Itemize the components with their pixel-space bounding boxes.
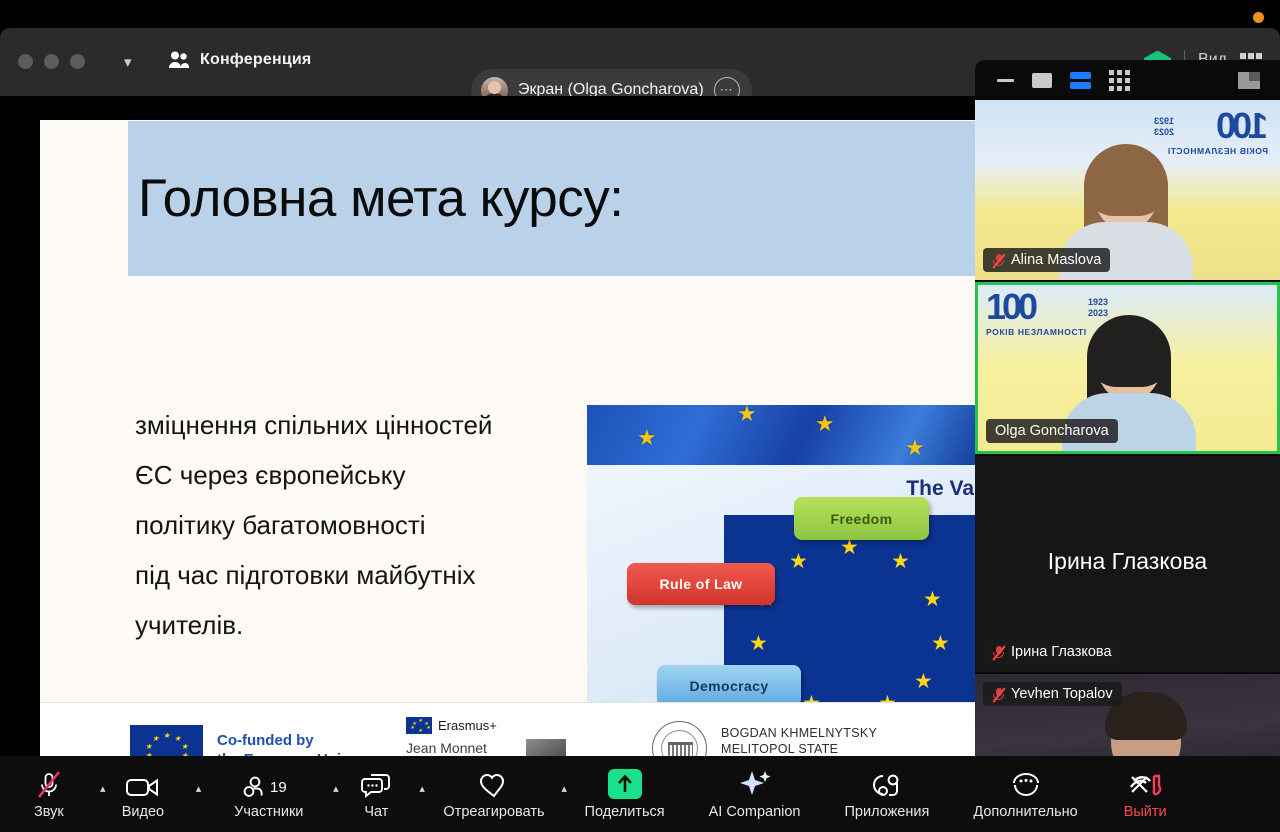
participant-display-name: Ірина Глазкова (975, 548, 1280, 575)
share-screen-label: Поделиться (585, 804, 665, 820)
video-button[interactable]: Видео ▴ (122, 756, 164, 832)
participants-button[interactable]: 19 Участники ▴ (234, 756, 303, 832)
university-line1: BOGDAN KHMELNYTSKY (721, 726, 877, 740)
value-box-rule-of-law: Rule of Law (627, 563, 775, 605)
close-button[interactable] (18, 54, 33, 69)
slide-body-line: учителів. (135, 600, 587, 650)
more-button[interactable]: Дополнительно (973, 756, 1077, 832)
participant-name-badge: Olga Goncharova (986, 419, 1118, 443)
year-bottom: 2023 (1154, 127, 1174, 137)
year-top: 1923 (1154, 116, 1174, 126)
video-caret-icon[interactable]: ▴ (196, 782, 202, 795)
meeting-toolbar: Звук ▴ Видео ▴ (0, 756, 1280, 832)
value-box-freedom: Freedom (794, 497, 929, 540)
chat-icon (361, 769, 391, 799)
audio-caret-icon[interactable]: ▴ (100, 782, 106, 795)
reactions-button[interactable]: Отреагировать ▴ (443, 756, 544, 832)
chat-button[interactable]: Чат ▴ (361, 756, 391, 832)
slide-body-line: політику багатомовності (135, 500, 587, 550)
gallery-view-icon[interactable] (1070, 72, 1091, 89)
reactions-label: Отреагировать (443, 804, 544, 820)
speaker-view-icon[interactable] (1032, 73, 1052, 88)
microphone-muted-icon (992, 687, 1005, 702)
apps-button[interactable]: Приложения (845, 756, 930, 832)
slide-body-line: зміцнення спільних цінностей (135, 400, 587, 450)
eu-flag-mini: ★★ ★★ ★★ (406, 717, 432, 734)
microphone-muted-icon (992, 645, 1005, 660)
leave-label: Выйти (1124, 804, 1167, 820)
eu-funding-line1: Co-funded by (217, 732, 314, 749)
audio-button[interactable]: Звук ▴ (34, 756, 64, 832)
share-screen-button[interactable]: Поделиться (585, 756, 665, 832)
chat-caret-icon[interactable]: ▴ (419, 782, 425, 795)
system-menu-bar (0, 0, 1280, 28)
orange-dot-icon (1253, 12, 1264, 23)
participant-name: Olga Goncharova (995, 423, 1109, 439)
apps-icon (871, 769, 903, 799)
grid-icon[interactable] (1109, 70, 1130, 91)
university-line2: MELITOPOL STATE (721, 742, 838, 756)
apps-label: Приложения (845, 804, 930, 820)
reactions-caret-icon[interactable]: ▴ (561, 782, 567, 795)
audio-label: Звук (34, 804, 64, 820)
more-icon (1010, 769, 1042, 799)
zoom-meeting-window: ▾ Конференция Экран (Olga Goncharova) ⋯ (0, 28, 1280, 832)
minus-icon[interactable] (997, 79, 1014, 82)
page-title: Головна мета курсу: (138, 168, 624, 229)
minimize-button[interactable] (44, 54, 59, 69)
meeting-title: Конференция (200, 51, 311, 69)
year-bottom: 2023 (1088, 308, 1108, 318)
eu-flag-sky: ★ ★ ★ ★ (587, 405, 980, 465)
svg-text:19: 19 (270, 779, 287, 796)
value-box-democracy: Democracy (657, 665, 801, 707)
pip-icon[interactable] (1238, 72, 1260, 89)
participant-name: Alina Maslova (1011, 252, 1101, 268)
zoom-button[interactable] (70, 54, 85, 69)
slide-body-line: під час підготовки майбутніх (135, 550, 587, 600)
desktop: ▾ Конференция Экран (Olga Goncharova) ⋯ (0, 0, 1280, 832)
ai-companion-button[interactable]: AI Companion (709, 756, 801, 832)
leave-icon (1128, 769, 1162, 799)
video-strip-panel: 100 1923 2023 РОКІВ НЕЗЛАМНОСТІ Alina Ma… (975, 60, 1280, 800)
ai-companion-label: AI Companion (709, 804, 801, 820)
slide-body-text: зміцнення спільних цінностей ЄС через єв… (135, 400, 587, 650)
heart-icon (479, 769, 509, 799)
participants-icon: 19 (240, 769, 298, 799)
slide-body-line: ЄС через європейську (135, 450, 587, 500)
video-layout-controls (975, 60, 1280, 100)
participant-name: Ірина Глазкова (1011, 644, 1112, 660)
participant-name: Yevhen Topalov (1011, 686, 1113, 702)
participant-tile[interactable]: 100 1923 2023 РОКІВ НЕЗЛАМНОСТІ Alina Ma… (975, 100, 1280, 280)
centenary-years: 1923 2023 (1088, 297, 1108, 319)
microphone-muted-icon (992, 253, 1005, 268)
people-icon (168, 50, 190, 70)
chevron-down-icon[interactable]: ▾ (124, 53, 132, 71)
video-label: Видео (122, 804, 164, 820)
participant-name-badge: Alina Maslova (983, 248, 1110, 272)
microphone-muted-icon (36, 769, 62, 799)
window-controls[interactable] (18, 54, 85, 69)
chat-label: Чат (364, 804, 388, 820)
presentation-slide: Головна мета курсу: зміцнення спільних ц… (40, 120, 980, 792)
jean-monnet-line1: Jean Monnet (406, 740, 487, 756)
camera-icon (126, 769, 160, 799)
participants-label: Участники (234, 804, 303, 820)
leave-button[interactable]: Выйти (1124, 756, 1167, 832)
year-top: 1923 (1088, 297, 1108, 307)
more-label: Дополнительно (973, 804, 1077, 820)
share-screen-icon (608, 769, 642, 799)
participant-tile[interactable]: Ірина Глазкова Ірина Глазкова (975, 456, 1280, 672)
participants-caret-icon[interactable]: ▴ (333, 782, 339, 795)
centenary-years: 1923 2023 (1154, 116, 1174, 138)
sparkle-icon (738, 769, 772, 799)
erasmus-label: Erasmus+ (438, 718, 497, 733)
participant-name-badge: Ірина Глазкова (983, 640, 1121, 664)
participant-name-badge: Yevhen Topalov (983, 682, 1122, 706)
participant-tile[interactable]: 100 1923 2023 РОКІВ НЕЗЛАМНОСТІ Olga Gon… (975, 282, 1280, 454)
meeting-title-group: Конференция (168, 50, 311, 70)
